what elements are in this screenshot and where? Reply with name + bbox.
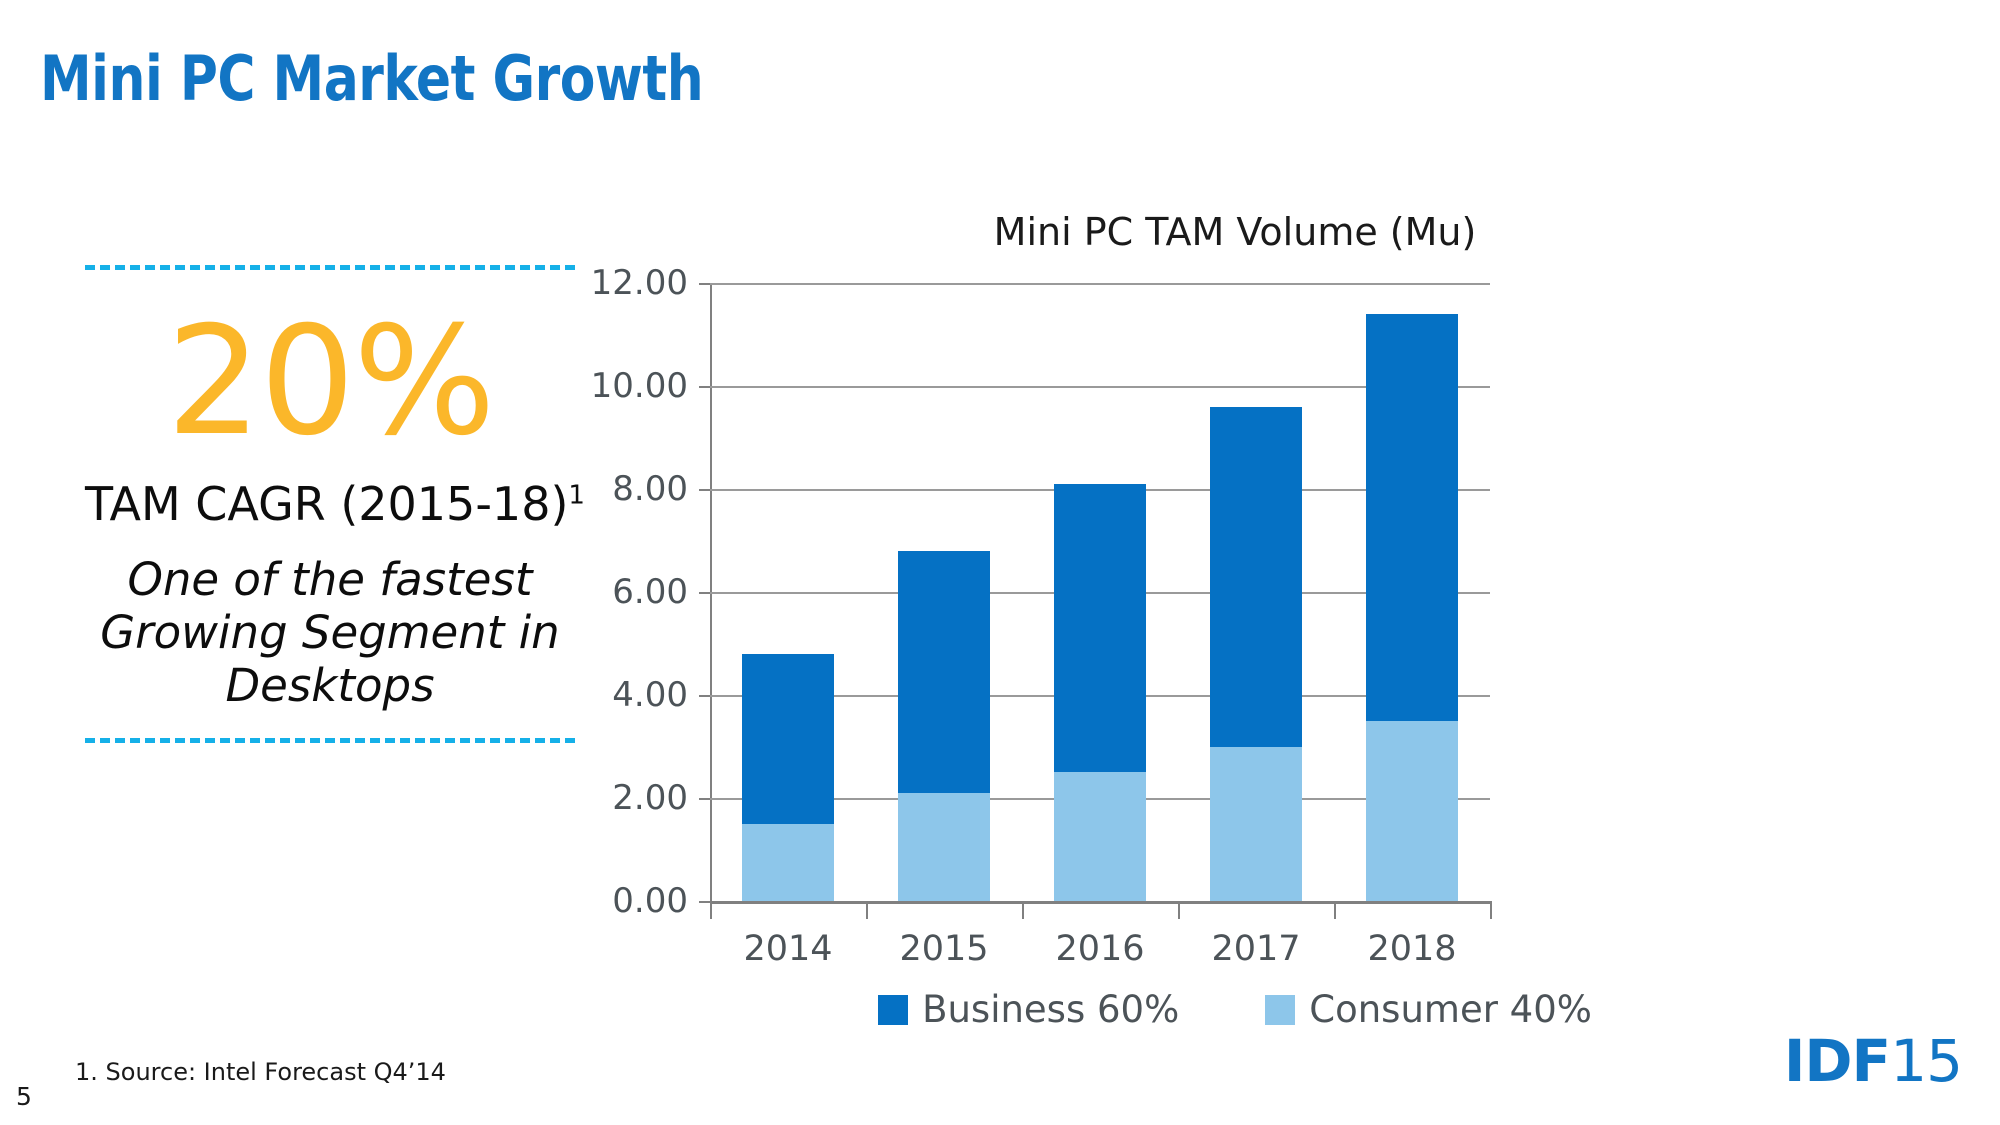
callout-divider-top: [85, 265, 575, 270]
bar-segment-consumer: [742, 824, 834, 901]
bar-segment-consumer: [898, 793, 990, 901]
gridline: [710, 901, 1490, 904]
y-tick-label: 2.00: [612, 778, 688, 818]
bar-2016[interactable]: [1054, 484, 1146, 901]
bar-segment-consumer: [1210, 747, 1302, 902]
chart-legend: Business 60%Consumer 40%: [620, 988, 1850, 1031]
slide-title: Mini PC Market Growth: [40, 42, 703, 115]
idf-logo: IDF15: [1784, 1032, 1962, 1090]
callout-divider-bottom-wrap: [85, 738, 575, 743]
x-tick-label: 2018: [1367, 929, 1456, 969]
chart-plot-area: 12.0010.008.006.004.002.000.00 201420152…: [710, 283, 1490, 901]
bar-segment-business: [1054, 484, 1146, 772]
y-tick-mark: [699, 283, 710, 285]
x-tick-mark: [866, 901, 868, 919]
stat-caption: TAM CAGR (2015-18)1: [85, 477, 575, 531]
bar-segment-business: [1210, 407, 1302, 747]
x-tick-mark: [1334, 901, 1336, 919]
y-tick-label: 0.00: [612, 881, 688, 921]
legend-label: Consumer 40%: [1309, 988, 1592, 1031]
y-tick-label: 4.00: [612, 675, 688, 715]
y-tick-mark: [699, 695, 710, 697]
x-tick-label: 2017: [1211, 929, 1300, 969]
bar-2014[interactable]: [742, 654, 834, 901]
big-stat-value: 20%: [85, 306, 575, 459]
bar-2017[interactable]: [1210, 407, 1302, 901]
x-tick-mark: [1022, 901, 1024, 919]
x-tick-label: 2014: [743, 929, 832, 969]
stat-caption-text: TAM CAGR (2015-18): [85, 477, 568, 531]
y-tick-mark: [699, 489, 710, 491]
idf-logo-mark: IDF: [1784, 1027, 1890, 1095]
callout-divider-bottom: [85, 738, 575, 743]
y-tick-mark: [699, 901, 710, 903]
bar-segment-business: [742, 654, 834, 824]
legend-item[interactable]: Consumer 40%: [1265, 988, 1592, 1031]
idf-logo-year: 15: [1890, 1027, 1962, 1095]
y-tick-label: 8.00: [612, 469, 688, 509]
x-tick-label: 2016: [1055, 929, 1144, 969]
chart-title: Mini PC TAM Volume (Mu): [620, 210, 1850, 254]
bar-segment-business: [1366, 314, 1458, 721]
y-tick-label: 6.00: [612, 572, 688, 612]
bar-segment-business: [898, 551, 990, 793]
legend-swatch-icon: [1265, 995, 1295, 1025]
x-tick-mark: [1178, 901, 1180, 919]
chart-container: Mini PC TAM Volume (Mu) 12.0010.008.006.…: [620, 160, 1950, 1060]
y-tick-mark: [699, 386, 710, 388]
bar-segment-consumer: [1366, 721, 1458, 901]
source-footnote: 1. Source: Intel Forecast Q4’14: [75, 1058, 446, 1086]
legend-swatch-icon: [878, 995, 908, 1025]
x-tick-mark: [710, 901, 712, 919]
y-axis-line: [710, 283, 712, 915]
gridline: [710, 283, 1490, 285]
y-tick-mark: [699, 798, 710, 800]
bar-2018[interactable]: [1366, 314, 1458, 901]
stat-subtext: One of the fastest Growing Segment in De…: [85, 553, 575, 712]
stat-caption-footnote-marker: 1: [568, 481, 585, 511]
callout-panel: 20% TAM CAGR (2015-18)1 One of the faste…: [85, 265, 575, 743]
legend-item[interactable]: Business 60%: [878, 988, 1179, 1031]
bar-segment-consumer: [1054, 772, 1146, 901]
page-number: 5: [16, 1082, 32, 1111]
x-tick-label: 2015: [899, 929, 988, 969]
y-tick-label: 12.00: [591, 263, 688, 303]
y-tick-mark: [699, 592, 710, 594]
y-tick-label: 10.00: [591, 366, 688, 406]
legend-label: Business 60%: [922, 988, 1179, 1031]
bar-2015[interactable]: [898, 551, 990, 901]
x-tick-mark: [1490, 901, 1492, 919]
